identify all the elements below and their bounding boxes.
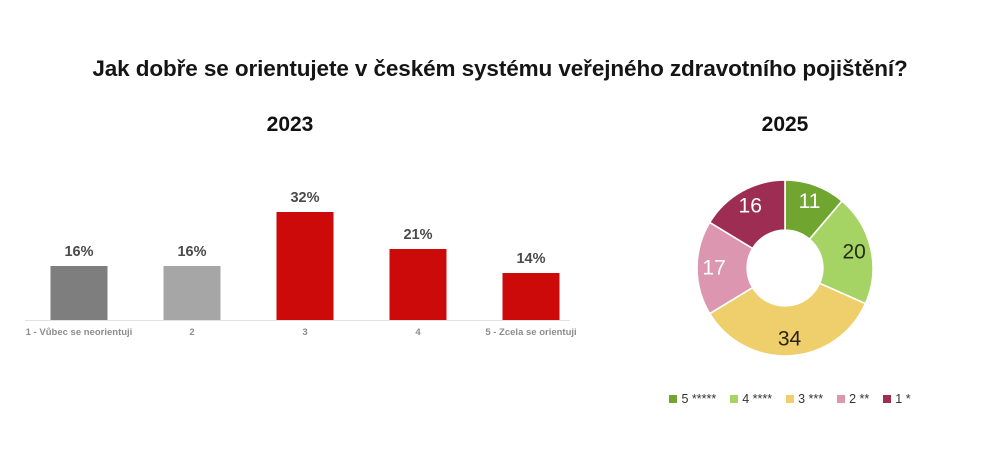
legend-label: 5 ***** <box>681 392 716 406</box>
legend-swatch-icon <box>786 395 794 403</box>
legend-label: 1 * <box>895 392 910 406</box>
bar-column: 16%2 <box>136 160 248 390</box>
bar-category-label: 3 <box>249 326 361 341</box>
bar-rect[interactable] <box>164 266 221 320</box>
bar-category-label: 1 - Vůbec se neorientuji <box>23 326 135 341</box>
donut-slice-label: 11 <box>799 190 821 213</box>
page-title: Jak dobře se orientujete v českém systém… <box>0 56 1000 82</box>
bar-column: 21%4 <box>362 160 474 390</box>
legend-item[interactable]: 5 ***** <box>669 392 716 406</box>
legend-item[interactable]: 2 ** <box>837 392 869 406</box>
bar-rect[interactable] <box>390 249 447 320</box>
bar-rect[interactable] <box>51 266 108 320</box>
legend-swatch-icon <box>837 395 845 403</box>
donut-slice-label: 20 <box>842 241 865 264</box>
bar-value-label: 14% <box>516 251 545 267</box>
bar-column: 16%1 - Vůbec se neorientuji <box>23 160 135 390</box>
legend-label: 3 *** <box>798 392 823 406</box>
bar-value-label: 16% <box>177 244 206 260</box>
legend-label: 4 **** <box>742 392 772 406</box>
bar-track: 14% <box>475 160 587 320</box>
legend-swatch-icon <box>730 395 738 403</box>
legend-swatch-icon <box>669 395 677 403</box>
bar-category-label: 5 - Zcela se orientuji <box>475 326 587 341</box>
bar-track: 16% <box>136 160 248 320</box>
bar-category-label: 4 <box>362 326 474 341</box>
bar-track: 32% <box>249 160 361 320</box>
bar-value-label: 16% <box>64 244 93 260</box>
donut-svg: 1120341716 <box>660 152 910 384</box>
donut-chart-2025: 1120341716 <box>660 152 910 384</box>
legend-swatch-icon <box>883 395 891 403</box>
bar-category-label: 2 <box>136 326 248 341</box>
slide-canvas: Jak dobře se orientujete v českém systém… <box>0 0 1000 461</box>
bar-value-label: 21% <box>403 227 432 243</box>
donut-slice-label: 34 <box>778 327 802 350</box>
chart-heading-2023: 2023 <box>190 113 390 137</box>
donut-legend: 5 *****4 ****3 ***2 **1 * <box>620 392 960 406</box>
bar-value-label: 32% <box>290 190 319 206</box>
bar-track: 16% <box>23 160 135 320</box>
bar-chart-2023: 16%1 - Vůbec se neorientuji16%232%321%41… <box>0 160 600 390</box>
legend-item[interactable]: 4 **** <box>730 392 772 406</box>
bar-column: 14%5 - Zcela se orientuji <box>475 160 587 390</box>
legend-label: 2 ** <box>849 392 869 406</box>
legend-item[interactable]: 1 * <box>883 392 910 406</box>
bar-column: 32%3 <box>249 160 361 390</box>
chart-heading-2025: 2025 <box>685 113 885 137</box>
donut-slice-label: 17 <box>702 257 725 280</box>
bar-rect[interactable] <box>277 212 334 320</box>
legend-item[interactable]: 3 *** <box>786 392 823 406</box>
bar-track: 21% <box>362 160 474 320</box>
bar-rect[interactable] <box>503 273 560 320</box>
donut-slice-label: 16 <box>739 195 762 218</box>
